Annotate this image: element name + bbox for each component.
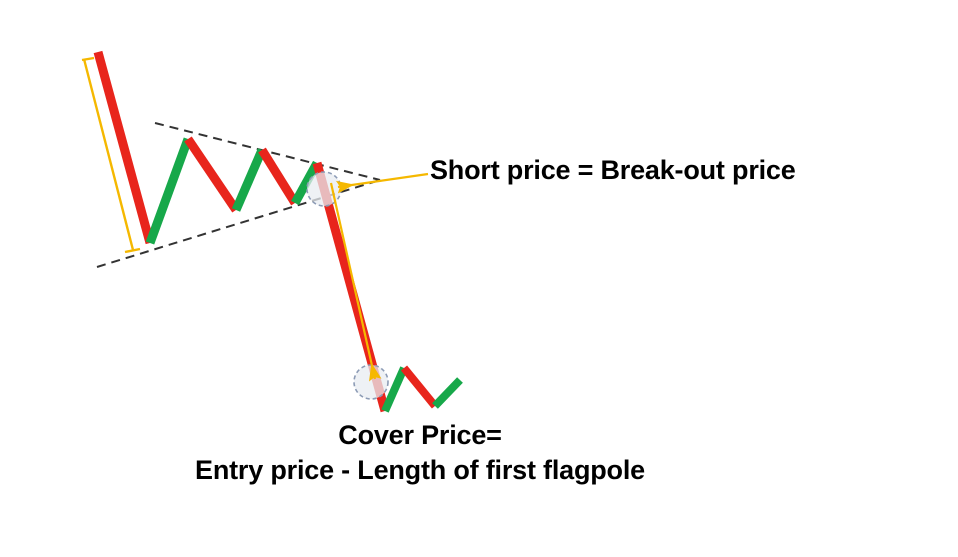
cover-price-label-line2: Entry price - Length of first flagpole — [0, 452, 958, 488]
projected-target-arrow — [331, 183, 375, 379]
cover-price-label-line1: Cover Price= — [0, 418, 958, 452]
price-path-group — [98, 52, 460, 411]
breakout-callout-arrow — [338, 174, 428, 187]
recovery-decline-down-segment — [404, 368, 435, 406]
pennant-decline-1-down-segment — [188, 139, 236, 210]
cover-price-annotation: Cover Price= Entry price - Length of fir… — [0, 418, 958, 488]
projected-target-arrow-line — [331, 183, 375, 379]
diagram-canvas: Short price = Break-out price Cover Pric… — [0, 0, 958, 557]
short-price-label: Short price = Break-out price — [430, 155, 796, 186]
recovery-1-up-segment — [385, 368, 404, 411]
recovery-2-up-segment — [435, 380, 460, 406]
bracket-bottom-cap — [125, 249, 140, 252]
pennant-rally-2-up-segment — [236, 150, 262, 210]
cover-point-marker — [354, 365, 388, 399]
breakout-callout-arrow-line — [338, 174, 428, 187]
pennant-rally-1-up-segment — [150, 139, 188, 243]
